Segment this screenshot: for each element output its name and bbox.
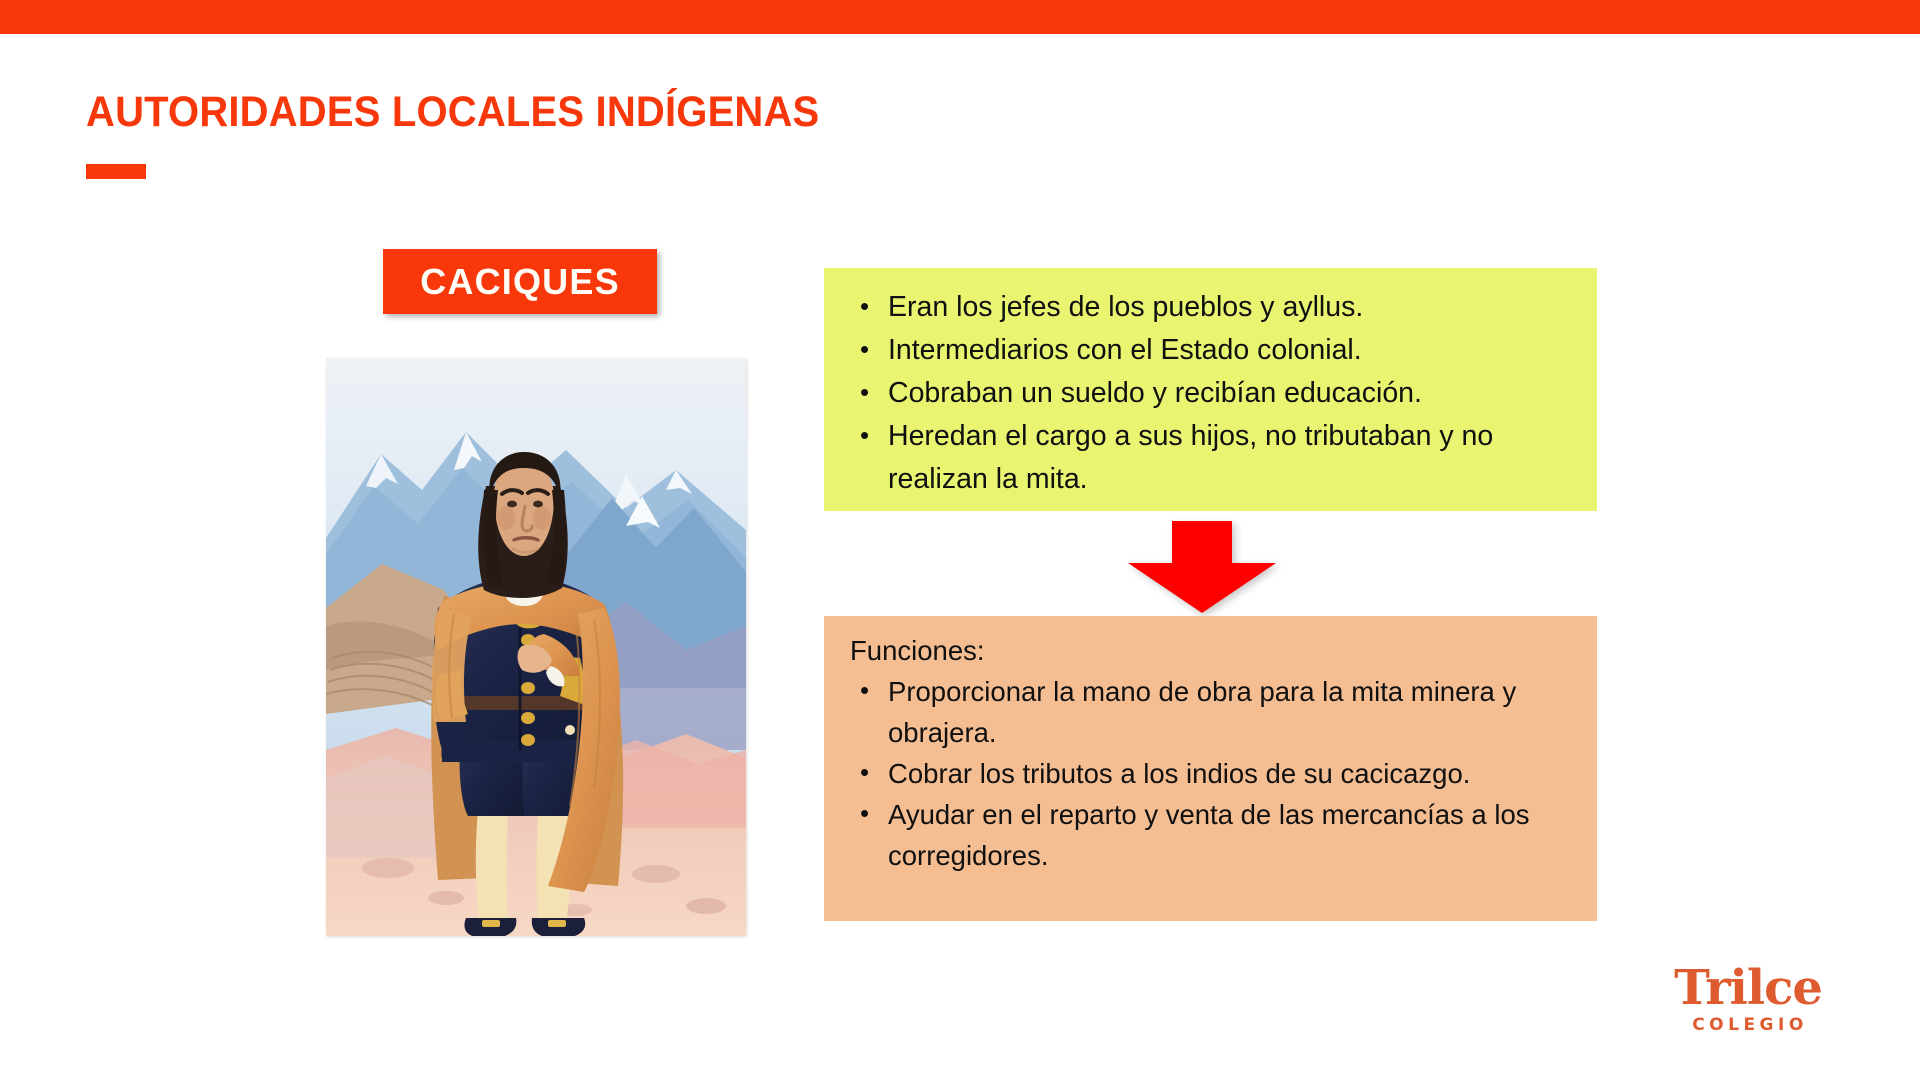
- down-arrow-icon: [1126, 521, 1278, 613]
- list-item: Heredan el cargo a sus hijos, no tributa…: [848, 415, 1573, 501]
- trilce-logo-subtitle: COLEGIO: [1668, 1014, 1828, 1036]
- caciques-description-list: Eran los jefes de los pueblos y ayllus. …: [848, 286, 1573, 501]
- top-accent-bar: [0, 0, 1920, 34]
- title-underline-accent: [86, 164, 146, 179]
- cacique-portrait-image: [326, 358, 746, 936]
- list-item: Proporcionar la mano de obra para la mit…: [848, 671, 1573, 753]
- page-title: AUTORIDADES LOCALES INDÍGENAS: [86, 88, 819, 137]
- caciques-badge: CACIQUES: [383, 249, 657, 314]
- funciones-box: Funciones: Proporcionar la mano de obra …: [824, 616, 1597, 921]
- list-item: Eran los jefes de los pueblos y ayllus.: [848, 286, 1573, 329]
- funciones-heading: Funciones:: [848, 632, 1573, 670]
- funciones-list: Proporcionar la mano de obra para la mit…: [848, 671, 1573, 876]
- trilce-logo-wordmark: Trilce: [1668, 962, 1828, 1014]
- list-item: Cobraban un sueldo y recibían educación.: [848, 372, 1573, 415]
- caciques-badge-label: CACIQUES: [420, 261, 620, 303]
- list-item: Ayudar en el reparto y venta de las merc…: [848, 794, 1573, 876]
- caciques-description-box: Eran los jefes de los pueblos y ayllus. …: [824, 268, 1597, 511]
- trilce-logo: Trilce COLEGIO: [1668, 962, 1828, 1054]
- list-item: Cobrar los tributos a los indios de su c…: [848, 753, 1573, 794]
- list-item: Intermediarios con el Estado colonial.: [848, 329, 1573, 372]
